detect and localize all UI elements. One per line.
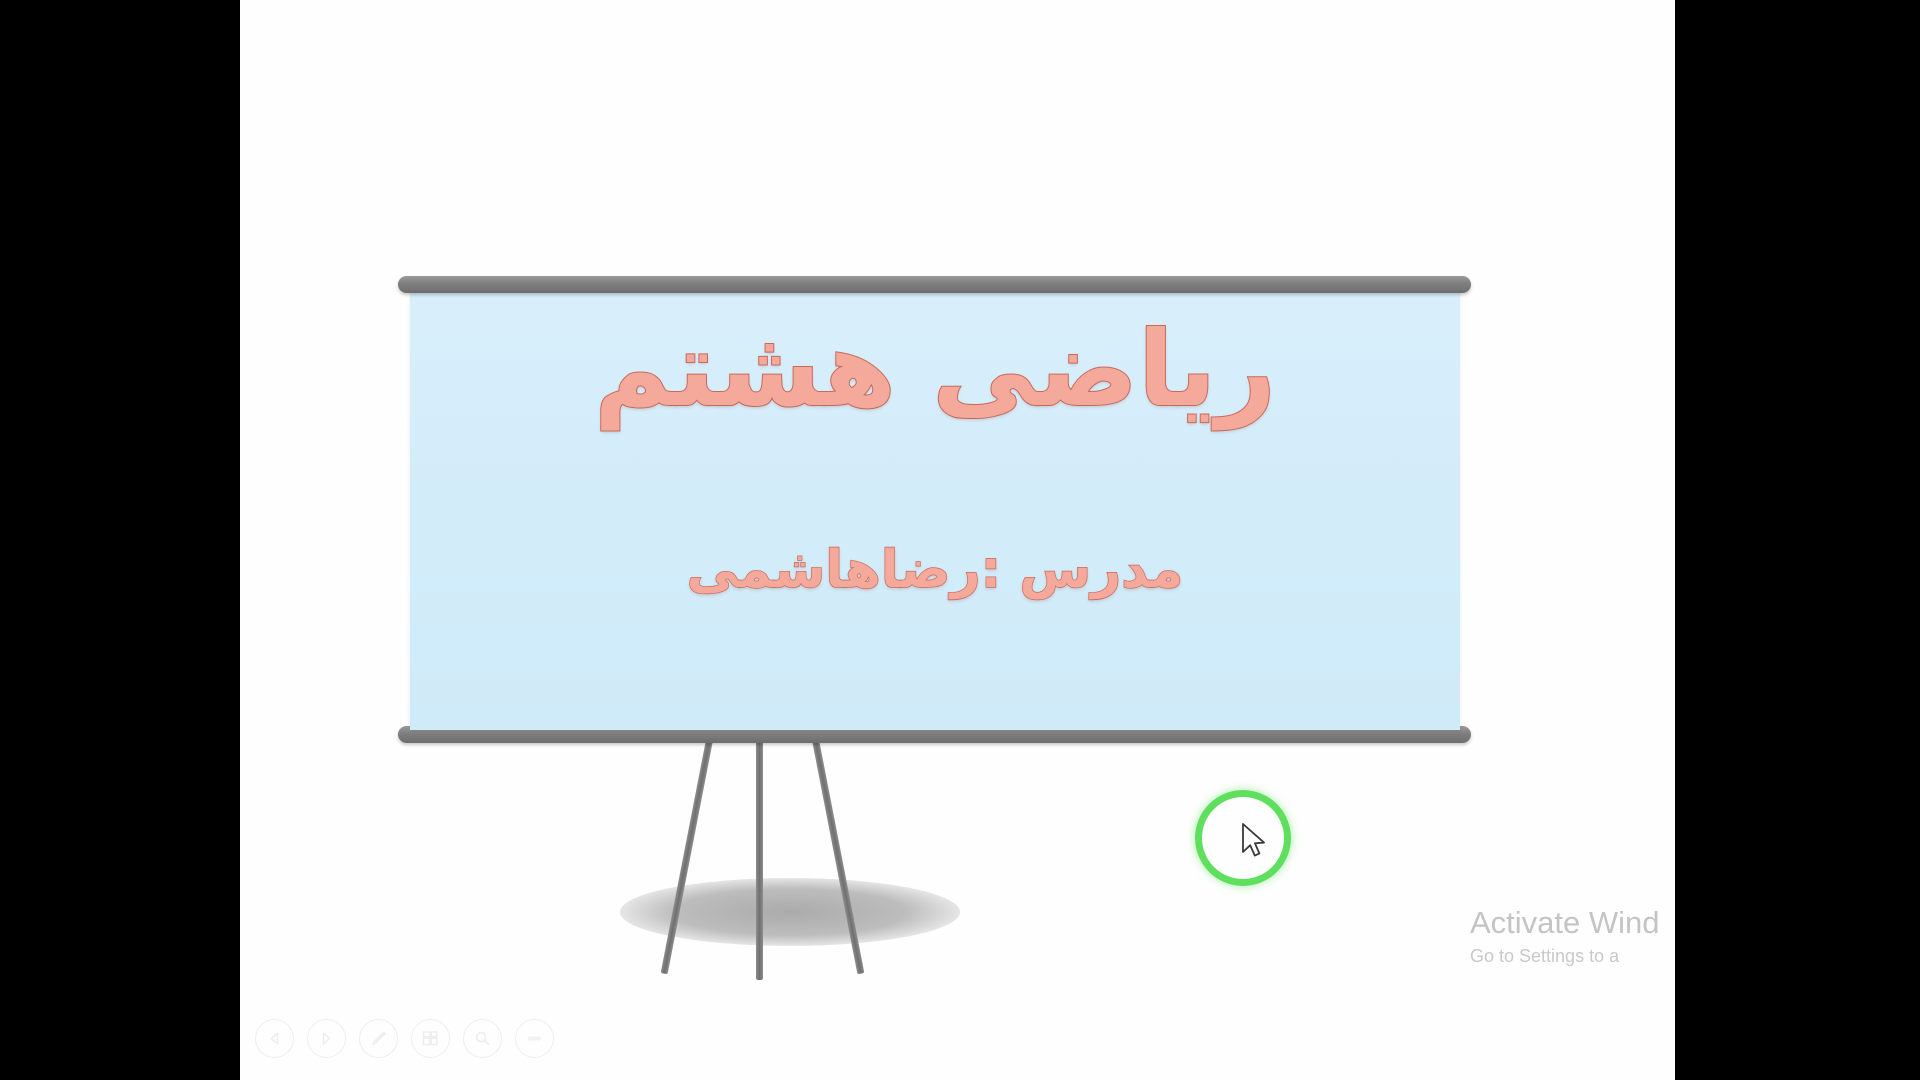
- slide-subtitle: مدرس :رضاهاشمی: [410, 540, 1460, 600]
- slide-title: ریاضی هشتم: [410, 310, 1460, 430]
- triangle-right-icon: [319, 1031, 334, 1046]
- slide-canvas[interactable]: ریاضی هشتم مدرس :رضاهاشمی Activate Wind …: [240, 0, 1675, 1080]
- slides-grid-icon: [421, 1029, 440, 1048]
- watermark-title: Activate Wind: [1470, 905, 1675, 941]
- watermark-subtitle: Go to Settings to a: [1470, 944, 1675, 968]
- activate-windows-watermark: Activate Wind Go to Settings to a: [1470, 905, 1675, 968]
- all-slides-button[interactable]: [411, 1019, 450, 1058]
- easel-leg-center: [756, 740, 763, 980]
- slideshow-toolbar: [255, 1019, 554, 1058]
- pen-icon: [369, 1029, 388, 1048]
- previous-slide-button[interactable]: [255, 1019, 294, 1058]
- easel-rod-top: [398, 276, 1471, 293]
- screen-capture-stage: ریاضی هشتم مدرس :رضاهاشمی Activate Wind …: [0, 0, 1920, 1080]
- ellipsis-icon: [525, 1029, 544, 1048]
- letterbox-bar-left: [0, 0, 240, 1080]
- triangle-left-icon: [267, 1031, 282, 1046]
- mouse-cursor: [1240, 822, 1270, 864]
- easel-illustration: ریاضی هشتم مدرس :رضاهاشمی: [240, 0, 1675, 1080]
- pen-tools-button[interactable]: [359, 1019, 398, 1058]
- next-slide-button[interactable]: [307, 1019, 346, 1058]
- more-options-button[interactable]: [515, 1019, 554, 1058]
- letterbox-bar-right: [1675, 0, 1920, 1080]
- zoom-slide-button[interactable]: [463, 1019, 502, 1058]
- magnifier-icon: [473, 1029, 492, 1048]
